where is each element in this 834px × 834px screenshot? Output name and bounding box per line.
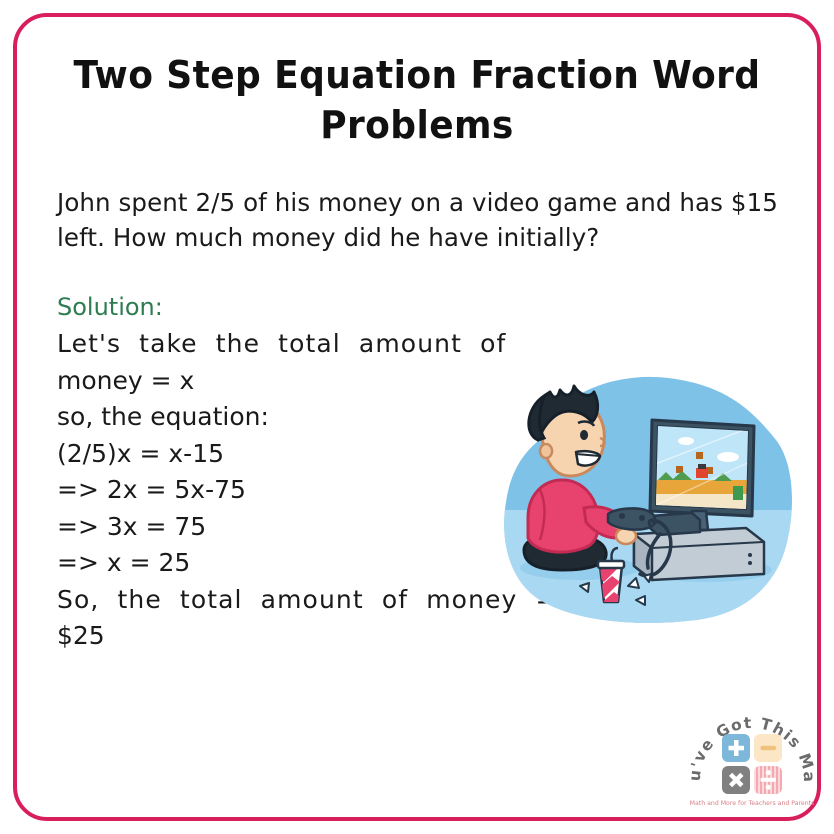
solution-line-8: So, the total amount of money = bbox=[57, 582, 497, 619]
solution-line-4: (2/5)x = x-15 bbox=[57, 436, 497, 473]
worksheet-page: Two Step Equation Fraction Word Problems… bbox=[0, 0, 834, 834]
brand-logo[interactable]: You've Got This Math bbox=[688, 694, 816, 812]
solution-line-6: => 3x = 75 bbox=[57, 509, 497, 546]
game-screen bbox=[650, 420, 754, 518]
logo-tagline: Math and More for Teachers and Parents bbox=[690, 800, 815, 807]
logo-tile-divide bbox=[754, 766, 782, 794]
solution-line-3: so, the equation: bbox=[57, 399, 497, 436]
logo-tile-multiply bbox=[722, 766, 750, 794]
solution-line-2: money = x bbox=[57, 363, 497, 400]
media-cabinet bbox=[634, 528, 764, 580]
solution-line-9: $25 bbox=[57, 618, 497, 655]
problem-statement: John spent 2/5 of his money on a video g… bbox=[57, 186, 787, 256]
solution-heading: Solution: bbox=[57, 292, 497, 322]
solution-line-5: => 2x = 5x-75 bbox=[57, 472, 497, 509]
logo-tile-minus bbox=[754, 734, 782, 762]
solution-line-1: Let's take the total amount of bbox=[57, 326, 497, 363]
logo-tiles bbox=[722, 734, 782, 794]
video-game-illustration bbox=[500, 368, 796, 630]
solution-block: Solution: Let's take the total amount of… bbox=[57, 292, 497, 655]
logo-arc-text: You've Got This Math bbox=[688, 694, 816, 784]
page-title: Two Step Equation Fraction Word Problems bbox=[70, 52, 764, 151]
solution-line-7: => x = 25 bbox=[57, 545, 497, 582]
game-console bbox=[650, 513, 700, 535]
logo-tile-plus bbox=[722, 734, 750, 762]
